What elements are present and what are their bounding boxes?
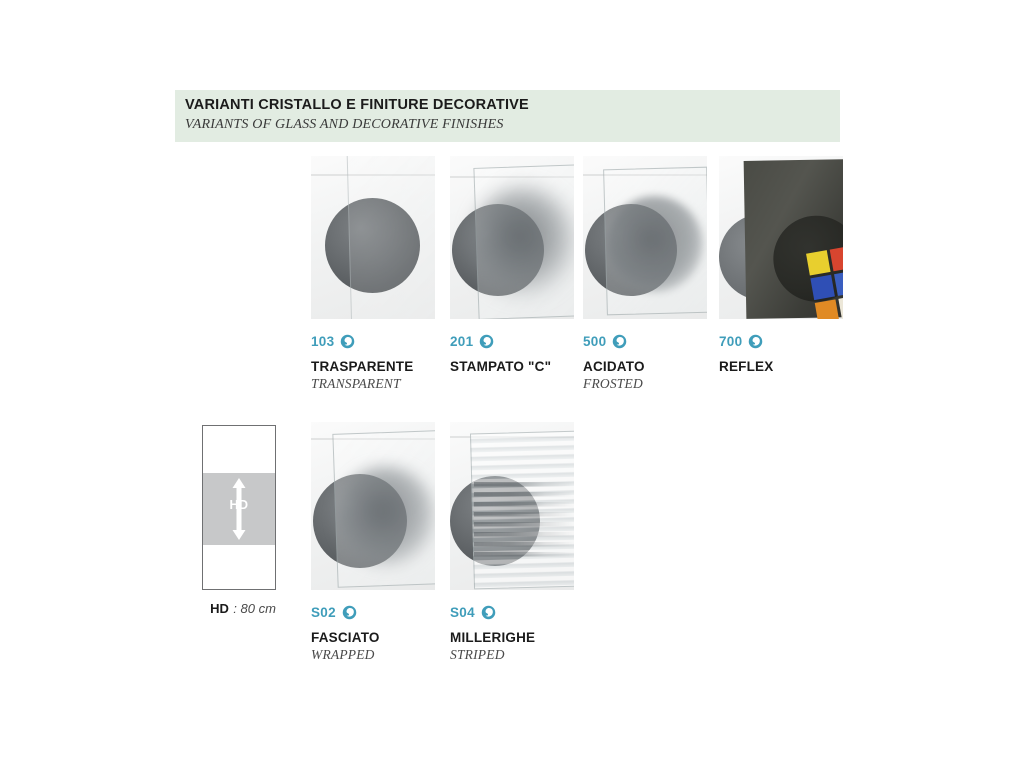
swatch — [806, 250, 831, 275]
code-row: 103 — [311, 333, 435, 350]
sample-caption: S04 MILLERIGHE STRIPED — [450, 604, 574, 663]
sample-name-en: FROSTED — [583, 376, 707, 392]
code-row: S02 — [311, 604, 435, 621]
sample-card-500[interactable]: 500 ACIDATO FROSTED — [583, 156, 707, 392]
glass-drop-icon — [342, 605, 357, 620]
sample-photo-acidato — [583, 156, 707, 319]
sample-code: S02 — [311, 605, 336, 620]
sample-caption: 201 STAMPATO "C" — [450, 333, 574, 374]
sample-card-700[interactable]: 700 REFLEX — [719, 156, 843, 376]
sample-code: 201 — [450, 334, 473, 349]
hd-caption: HD : 80 cm — [193, 600, 293, 618]
sample-card-S02[interactable]: S02 FASCIATO WRAPPED — [311, 422, 435, 663]
swatch — [834, 270, 843, 295]
sample-caption: 103 TRASPARENTE TRANSPARENT — [311, 333, 435, 392]
glass-drop-icon — [340, 334, 355, 349]
swatch — [839, 295, 843, 319]
swatch — [810, 275, 835, 300]
sample-name-it: MILLERIGHE — [450, 630, 574, 645]
sample-caption: S02 FASCIATO WRAPPED — [311, 604, 435, 663]
sample-photo-fasciato — [311, 422, 435, 590]
sample-photo-reflex — [719, 156, 843, 319]
sample-photo-millerighe — [450, 422, 574, 590]
frosted-sphere-through-glass — [607, 196, 703, 292]
sample-name-it: FASCIATO — [311, 630, 435, 645]
sample-code: S04 — [450, 605, 475, 620]
hd-caption-key: HD — [210, 601, 229, 616]
sample-name-en: WRAPPED — [311, 647, 435, 663]
blurred-sphere-through-glass — [472, 186, 574, 298]
sample-name-it: ACIDATO — [583, 359, 707, 374]
glass-drop-icon — [481, 605, 496, 620]
color-swatch-grid — [806, 242, 843, 319]
code-row: 201 — [450, 333, 574, 350]
striped-sphere-streaks — [474, 482, 574, 560]
section-header-band: VARIANTI CRISTALLO E FINITURE DECORATIVE… — [175, 90, 840, 142]
glass-drop-icon — [748, 334, 763, 349]
glass-drop-icon — [479, 334, 494, 349]
sample-name-it: TRASPARENTE — [311, 359, 435, 374]
mirrored-glass-pane — [744, 159, 843, 319]
sample-caption: 700 REFLEX — [719, 333, 843, 374]
page-subtitle: VARIANTS OF GLASS AND DECORATIVE FINISHE… — [185, 115, 840, 134]
sample-code: 700 — [719, 334, 742, 349]
sample-card-201[interactable]: 201 STAMPATO "C" — [450, 156, 574, 376]
swatch — [830, 246, 843, 271]
code-row: 700 — [719, 333, 843, 350]
sample-caption: 500 ACIDATO FROSTED — [583, 333, 707, 392]
hd-caption-value: : 80 cm — [233, 601, 276, 616]
sample-photo-transparent — [311, 156, 435, 319]
swatch — [815, 299, 840, 319]
code-row: 500 — [583, 333, 707, 350]
sample-name-it: REFLEX — [719, 359, 843, 374]
wrapped-sphere-through-glass — [337, 466, 435, 566]
sample-code: 500 — [583, 334, 606, 349]
sample-name-en: TRANSPARENT — [311, 376, 435, 392]
sample-card-103[interactable]: 103 TRASPARENTE TRANSPARENT — [311, 156, 435, 392]
sample-name-en: STRIPED — [450, 647, 574, 663]
glass-pane — [347, 156, 435, 319]
sample-name-it: STAMPATO "C" — [450, 359, 574, 374]
sample-card-S04[interactable]: S04 MILLERIGHE STRIPED — [450, 422, 574, 663]
glass-drop-icon — [612, 334, 627, 349]
hd-inner-label: HD — [229, 498, 248, 512]
page-title: VARIANTI CRISTALLO E FINITURE DECORATIVE — [185, 95, 840, 115]
code-row: S04 — [450, 604, 574, 621]
hd-dimension-diagram: HD — [202, 425, 276, 590]
sample-photo-stampato-c — [450, 156, 574, 319]
sample-code: 103 — [311, 334, 334, 349]
